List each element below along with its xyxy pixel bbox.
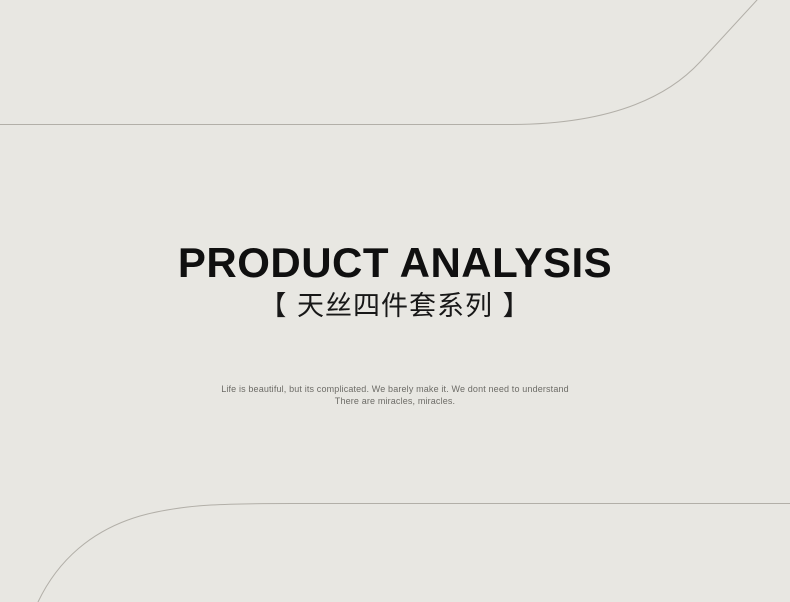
caption-block: Life is beautiful, but its complicated. … (0, 383, 790, 407)
caption-line-2: There are miracles, miracles. (0, 395, 790, 407)
title-block: PRODUCT ANALYSIS 【 天丝四件套系列 】 (0, 240, 790, 324)
slide-canvas: PRODUCT ANALYSIS 【 天丝四件套系列 】 Life is bea… (0, 0, 790, 602)
slide-content: PRODUCT ANALYSIS 【 天丝四件套系列 】 Life is bea… (0, 0, 790, 602)
caption-line-1: Life is beautiful, but its complicated. … (0, 383, 790, 395)
page-title: PRODUCT ANALYSIS (0, 240, 790, 286)
page-subtitle-cn: 【 天丝四件套系列 】 (0, 290, 790, 324)
